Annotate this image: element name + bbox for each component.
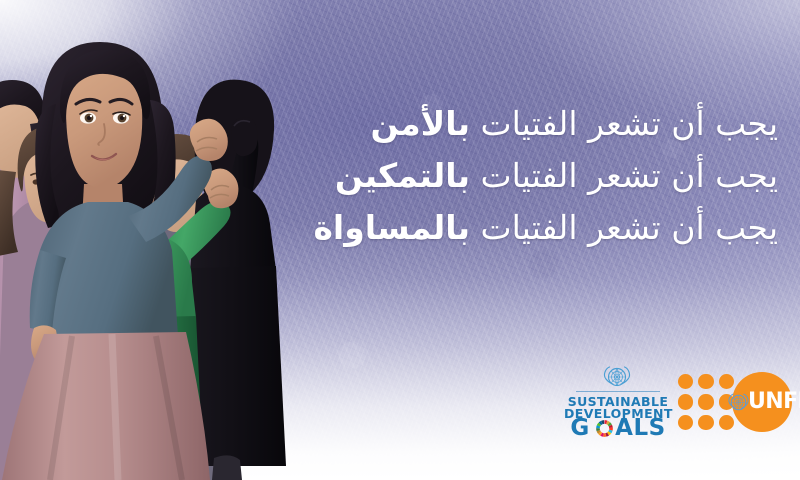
logo-row: SUSTAINABLE DEVELOPMENT G ALS xyxy=(560,362,792,444)
headline-line-2-lead: يجب أن تشعر الفتيات xyxy=(481,156,778,195)
unfpa-dot-grid xyxy=(678,374,734,430)
headline-line-1: يجب أن تشعر الفتيات بالأمن xyxy=(218,98,778,150)
headline-line-1-lead: يجب أن تشعر الفتيات xyxy=(481,104,778,143)
unfpa-dot xyxy=(678,415,693,430)
headline-line-2: يجب أن تشعر الفتيات بالتمكين xyxy=(218,150,778,202)
unfpa-dot xyxy=(698,415,713,430)
headline-line-3-keyword: بالمساواة xyxy=(313,208,470,247)
headline-block: يجب أن تشعر الفتيات بالأمن يجب أن تشعر ا… xyxy=(218,98,778,254)
headline-line-3: يجب أن تشعر الفتيات بالمساواة xyxy=(218,202,778,254)
unfpa-dot xyxy=(719,415,734,430)
campaign-banner: يجب أن تشعر الفتيات بالأمن يجب أن تشعر ا… xyxy=(0,0,800,480)
unfpa-dot xyxy=(698,394,713,409)
sdg-color-wheel-icon xyxy=(595,419,614,438)
sdg-divider xyxy=(576,391,660,392)
headline-line-2-keyword: بالتمكين xyxy=(335,156,470,195)
unfpa-dot xyxy=(719,374,734,389)
unfpa-dot xyxy=(678,394,693,409)
headline-line-3-lead: يجب أن تشعر الفتيات xyxy=(481,208,778,247)
headline-line-1-keyword: بالأمن xyxy=(371,104,470,143)
sdg-word-goals: G ALS xyxy=(564,417,672,440)
sdg-logo[interactable]: SUSTAINABLE DEVELOPMENT G ALS xyxy=(564,364,672,442)
un-emblem-icon xyxy=(727,391,750,414)
un-emblem-icon xyxy=(602,364,632,390)
unfpa-logo[interactable]: UNFPA xyxy=(678,368,792,436)
unfpa-wordmark: UNFPA xyxy=(748,390,800,414)
unfpa-dot xyxy=(678,374,693,389)
unfpa-dot xyxy=(698,374,713,389)
